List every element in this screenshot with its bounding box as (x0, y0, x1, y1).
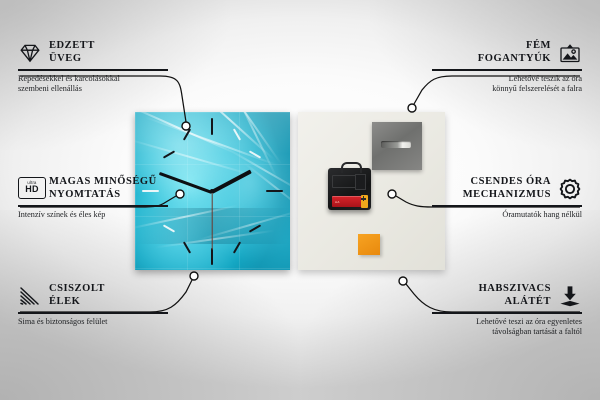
product-image: AA (135, 112, 445, 270)
callout-title: CSENDES ÓRA MECHANIZMUS (463, 176, 551, 201)
callout-divider (18, 69, 168, 71)
clock-center-pin (210, 189, 214, 193)
metal-hanger-part (372, 122, 422, 170)
callout-metal-handles: FÉM FOGANTYÚK Lehetővé teszik az óra kön… (432, 40, 582, 95)
callout-subtitle: Lehetővé teszi az óra egyenletes távolsá… (432, 317, 582, 338)
callout-subtitle: Intenzív színek és éles kép (18, 210, 168, 221)
foam-pad-arrow-icon (558, 284, 582, 308)
callout-title: EDZETT ÜVEG (49, 40, 95, 65)
ultra-hd-label: HD (25, 185, 39, 195)
callout-silent-mechanism: CSENDES ÓRA MECHANIZMUS Óramutatók hang … (432, 176, 582, 220)
clock-mechanism-part: AA (328, 168, 371, 210)
callout-divider (18, 205, 168, 207)
callout-title: HABSZIVACS ALÁTÉT (479, 283, 551, 308)
callout-subtitle: Repedésekkel és karcolásokkal szembeni e… (18, 74, 168, 95)
callout-tempered-glass: EDZETT ÜVEG Repedésekkel és karcolásokka… (18, 40, 168, 95)
callout-title: CSISZOLT ÉLEK (49, 283, 105, 308)
callout-subtitle: Lehetővé teszik az óra könnyű felszerelé… (432, 74, 582, 95)
second-hand (211, 192, 212, 250)
gear-icon (558, 177, 582, 201)
ultra-hd-icon: ultra HD (18, 177, 42, 201)
callout-subtitle: Sima és biztonságos felület (18, 317, 168, 328)
foam-pad-part (358, 234, 380, 255)
clock-back-panel: AA (298, 112, 445, 270)
callout-subtitle: Óramutatók hang nélkül (432, 210, 582, 221)
callout-title: MAGAS MINŐSÉGŰ NYOMTATÁS (49, 176, 157, 201)
callout-divider (432, 205, 582, 207)
callout-divider (432, 69, 582, 71)
callout-title: FÉM FOGANTYÚK (478, 40, 551, 65)
diamond-icon (18, 41, 42, 65)
callout-divider (432, 312, 582, 314)
callout-divider (18, 312, 168, 314)
picture-frame-hanger-icon (558, 41, 582, 65)
battery-part: AA (332, 196, 367, 207)
callout-polished-edges: CSISZOLT ÉLEK Sima és biztonságos felüle… (18, 283, 168, 327)
callout-hd-print: ultra HD MAGAS MINŐSÉGŰ NYOMTATÁS Intenz… (18, 176, 168, 220)
infographic-canvas: AA (0, 0, 600, 400)
callout-foam-pad: HABSZIVACS ALÁTÉT Lehetővé teszi az óra … (432, 283, 582, 338)
polished-edges-icon (18, 284, 42, 308)
hour-hand (211, 170, 252, 194)
